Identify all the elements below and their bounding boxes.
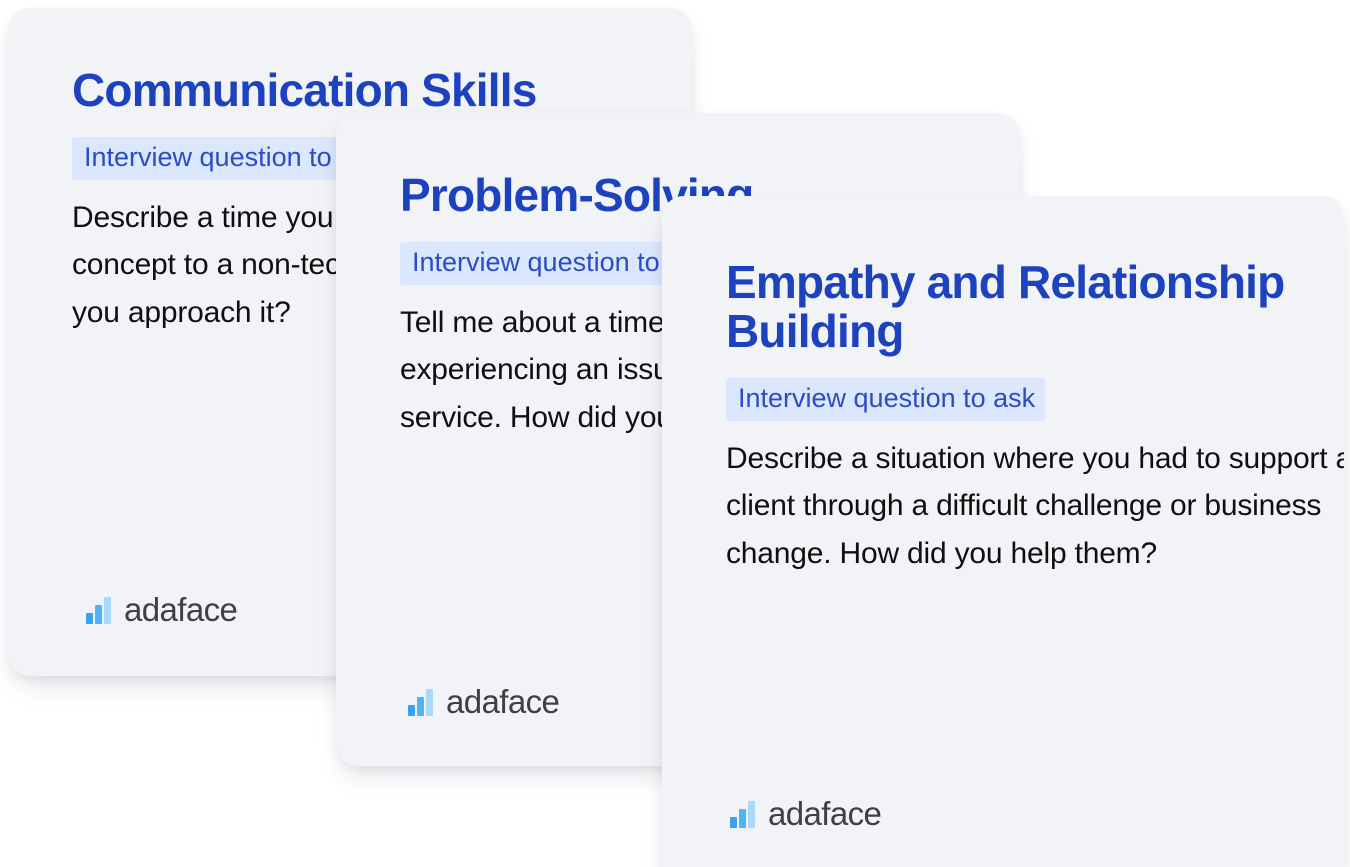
card-badge: Interview question to ask bbox=[726, 378, 1045, 421]
card-title: Communication Skills bbox=[72, 66, 692, 115]
adaface-wordmark: adaface bbox=[768, 797, 881, 830]
cards-stage: Communication Skills Interview question … bbox=[0, 0, 1350, 867]
bar-chart-icon bbox=[86, 597, 113, 624]
adaface-logo: adaface bbox=[86, 591, 237, 624]
card-empathy-relationship-building[interactable]: Empathy and Relationship Building Interv… bbox=[662, 196, 1344, 867]
card-question: Describe a situation where you had to su… bbox=[726, 435, 1344, 577]
adaface-wordmark: adaface bbox=[124, 593, 237, 626]
adaface-wordmark: adaface bbox=[446, 685, 559, 718]
bar-chart-icon bbox=[408, 689, 435, 716]
adaface-logo: adaface bbox=[730, 795, 881, 828]
adaface-logo: adaface bbox=[408, 683, 559, 716]
bar-chart-icon bbox=[730, 801, 757, 828]
card-content: Empathy and Relationship Building Interv… bbox=[662, 196, 1344, 577]
card-title: Empathy and Relationship Building bbox=[726, 258, 1344, 356]
